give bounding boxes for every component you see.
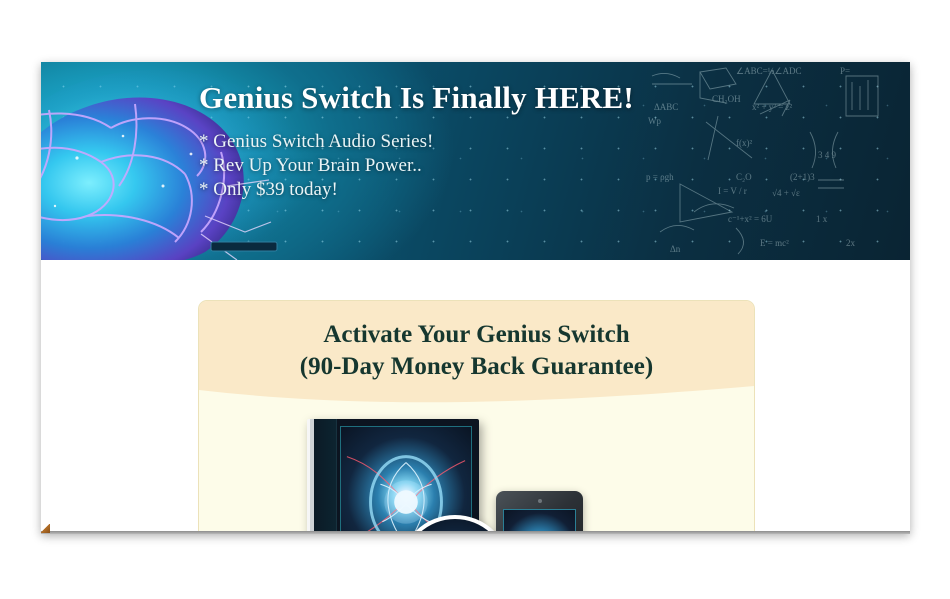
tablet-device-icon	[496, 491, 583, 533]
offer-card-title: Activate Your Genius Switch (90-Day Mone…	[213, 319, 740, 383]
svg-text:I = V / r: I = V / r	[718, 186, 747, 196]
product-box-spine: THE GENIU	[314, 419, 337, 533]
svg-text:(2+1)3: (2+1)3	[790, 172, 815, 182]
offer-card-body: THE GENIU	[199, 409, 754, 533]
offer-card-header: Activate Your Genius Switch (90-Day Mone…	[199, 301, 754, 409]
svg-text:∠ABC=½∠ADC: ∠ABC=½∠ADC	[736, 66, 801, 76]
header-wave-divider	[199, 384, 754, 410]
tablet-screen	[503, 509, 576, 533]
svg-text:1 x: 1 x	[816, 214, 828, 224]
tablet-camera-dot	[538, 499, 542, 503]
offer-card-title-line2: (90-Day Money Back Guarantee)	[300, 353, 653, 380]
svg-text:c⁻¹+x² = 6U: c⁻¹+x² = 6U	[728, 214, 773, 224]
hero-banner: ∠ABC=½∠ADC P= CH₃OH ΔABC x² + y² = z² Wp…	[41, 62, 910, 260]
svg-text:2x: 2x	[846, 238, 856, 248]
browser-page-viewport: ∠ABC=½∠ADC P= CH₃OH ΔABC x² + y² = z² Wp…	[41, 62, 910, 533]
svg-text:x² + y² = z²: x² + y² = z²	[752, 102, 793, 112]
svg-text:3 4 9: 3 4 9	[818, 150, 837, 160]
hero-title: Genius Switch Is Finally HERE!	[199, 80, 669, 116]
product-shot: THE GENIU	[199, 409, 754, 533]
page-bottom-edge	[41, 531, 910, 534]
hero-bullet-item: * Rev Up Your Brain Power..	[199, 154, 669, 178]
hero-bullet-item: * Only $39 today!	[199, 178, 669, 202]
offer-card-title-line1: Activate Your Genius Switch	[323, 321, 629, 348]
page-corner-nub	[41, 524, 50, 533]
svg-text:P=: P=	[840, 66, 850, 76]
hero-copy: Genius Switch Is Finally HERE! * Genius …	[199, 80, 669, 202]
svg-text:f(x)²: f(x)²	[736, 138, 752, 148]
svg-text:CH₃OH: CH₃OH	[712, 94, 741, 104]
hero-bullet-item: * Genius Switch Audio Series!	[199, 130, 669, 154]
svg-text:E = mc²: E = mc²	[760, 238, 789, 248]
svg-text:C₂O: C₂O	[736, 172, 752, 182]
svg-text:√4 + √ε: √4 + √ε	[772, 188, 800, 198]
offer-card: Activate Your Genius Switch (90-Day Mone…	[198, 300, 755, 533]
chalkboard-formulas-icon: ∠ABC=½∠ADC P= CH₃OH ΔABC x² + y² = z² Wp…	[640, 62, 910, 260]
svg-text:Δn: Δn	[670, 244, 681, 254]
hero-bullet-list: * Genius Switch Audio Series! * Rev Up Y…	[199, 130, 669, 202]
